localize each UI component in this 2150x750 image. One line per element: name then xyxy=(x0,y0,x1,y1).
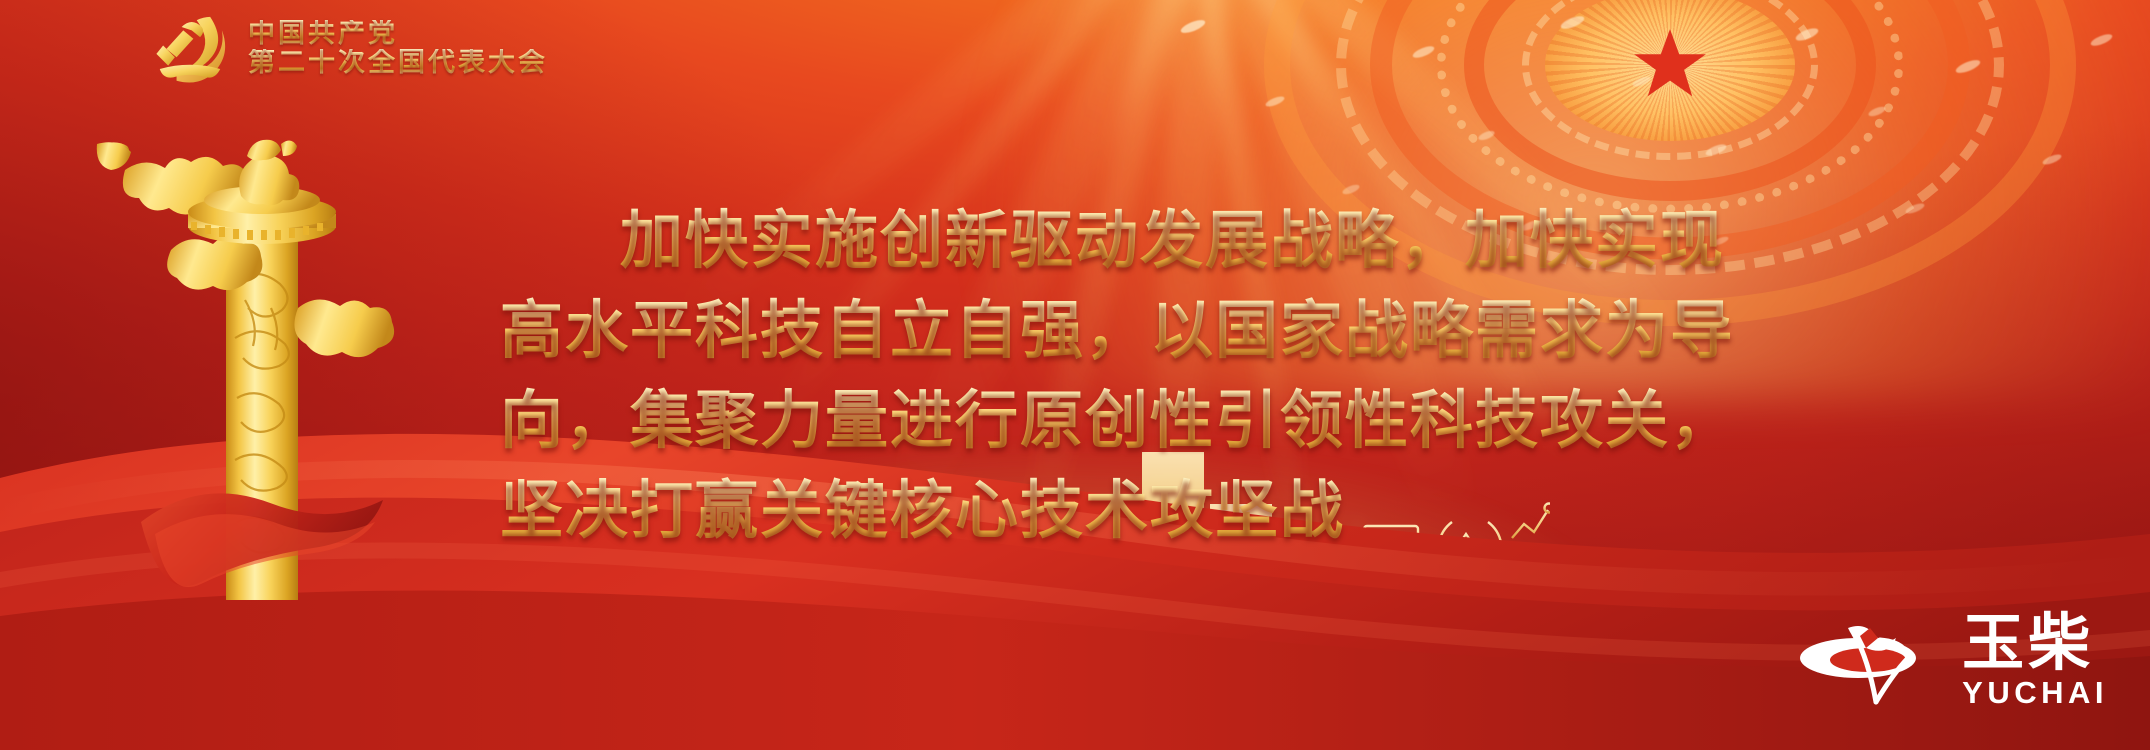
headline-block: 加快实施创新驱动发展战略，加快实现 高水平科技自立自强，以国家战略需求为导 向，… xyxy=(500,196,1730,556)
brand-name-cn: 玉柴 xyxy=(1962,611,2094,674)
hammer-and-sickle-emblem xyxy=(148,10,232,86)
party-logo-line-2: 第二十次全国代表大会 xyxy=(248,49,548,76)
headline-line-4: 坚决打赢关键核心技术攻坚战 xyxy=(500,466,1730,556)
brand-name-en: YUCHAI xyxy=(1962,676,2108,710)
party-congress-logo: 中国共产党 第二十次全国代表大会 xyxy=(148,10,548,86)
headline-line-2: 高水平科技自立自强，以国家战略需求为导 xyxy=(500,286,1730,376)
headline-line-1: 加快实施创新驱动发展战略，加快实现 xyxy=(500,196,1730,286)
huabiao-column xyxy=(95,130,425,600)
five-pointed-star-icon xyxy=(1631,24,1709,102)
yuchai-brand-logo: 玉柴 YUCHAI xyxy=(1796,611,2108,710)
yuchai-mark-icon xyxy=(1796,614,1946,706)
party-logo-line-1: 中国共产党 xyxy=(248,20,548,47)
headline-line-3: 向，集聚力量进行原创性引领性科技攻关， xyxy=(500,376,1730,466)
party-congress-banner: 中国共产党 第二十次全国代表大会 加快实施创新驱动发展战略，加快实现 高水平科技… xyxy=(0,0,2150,750)
